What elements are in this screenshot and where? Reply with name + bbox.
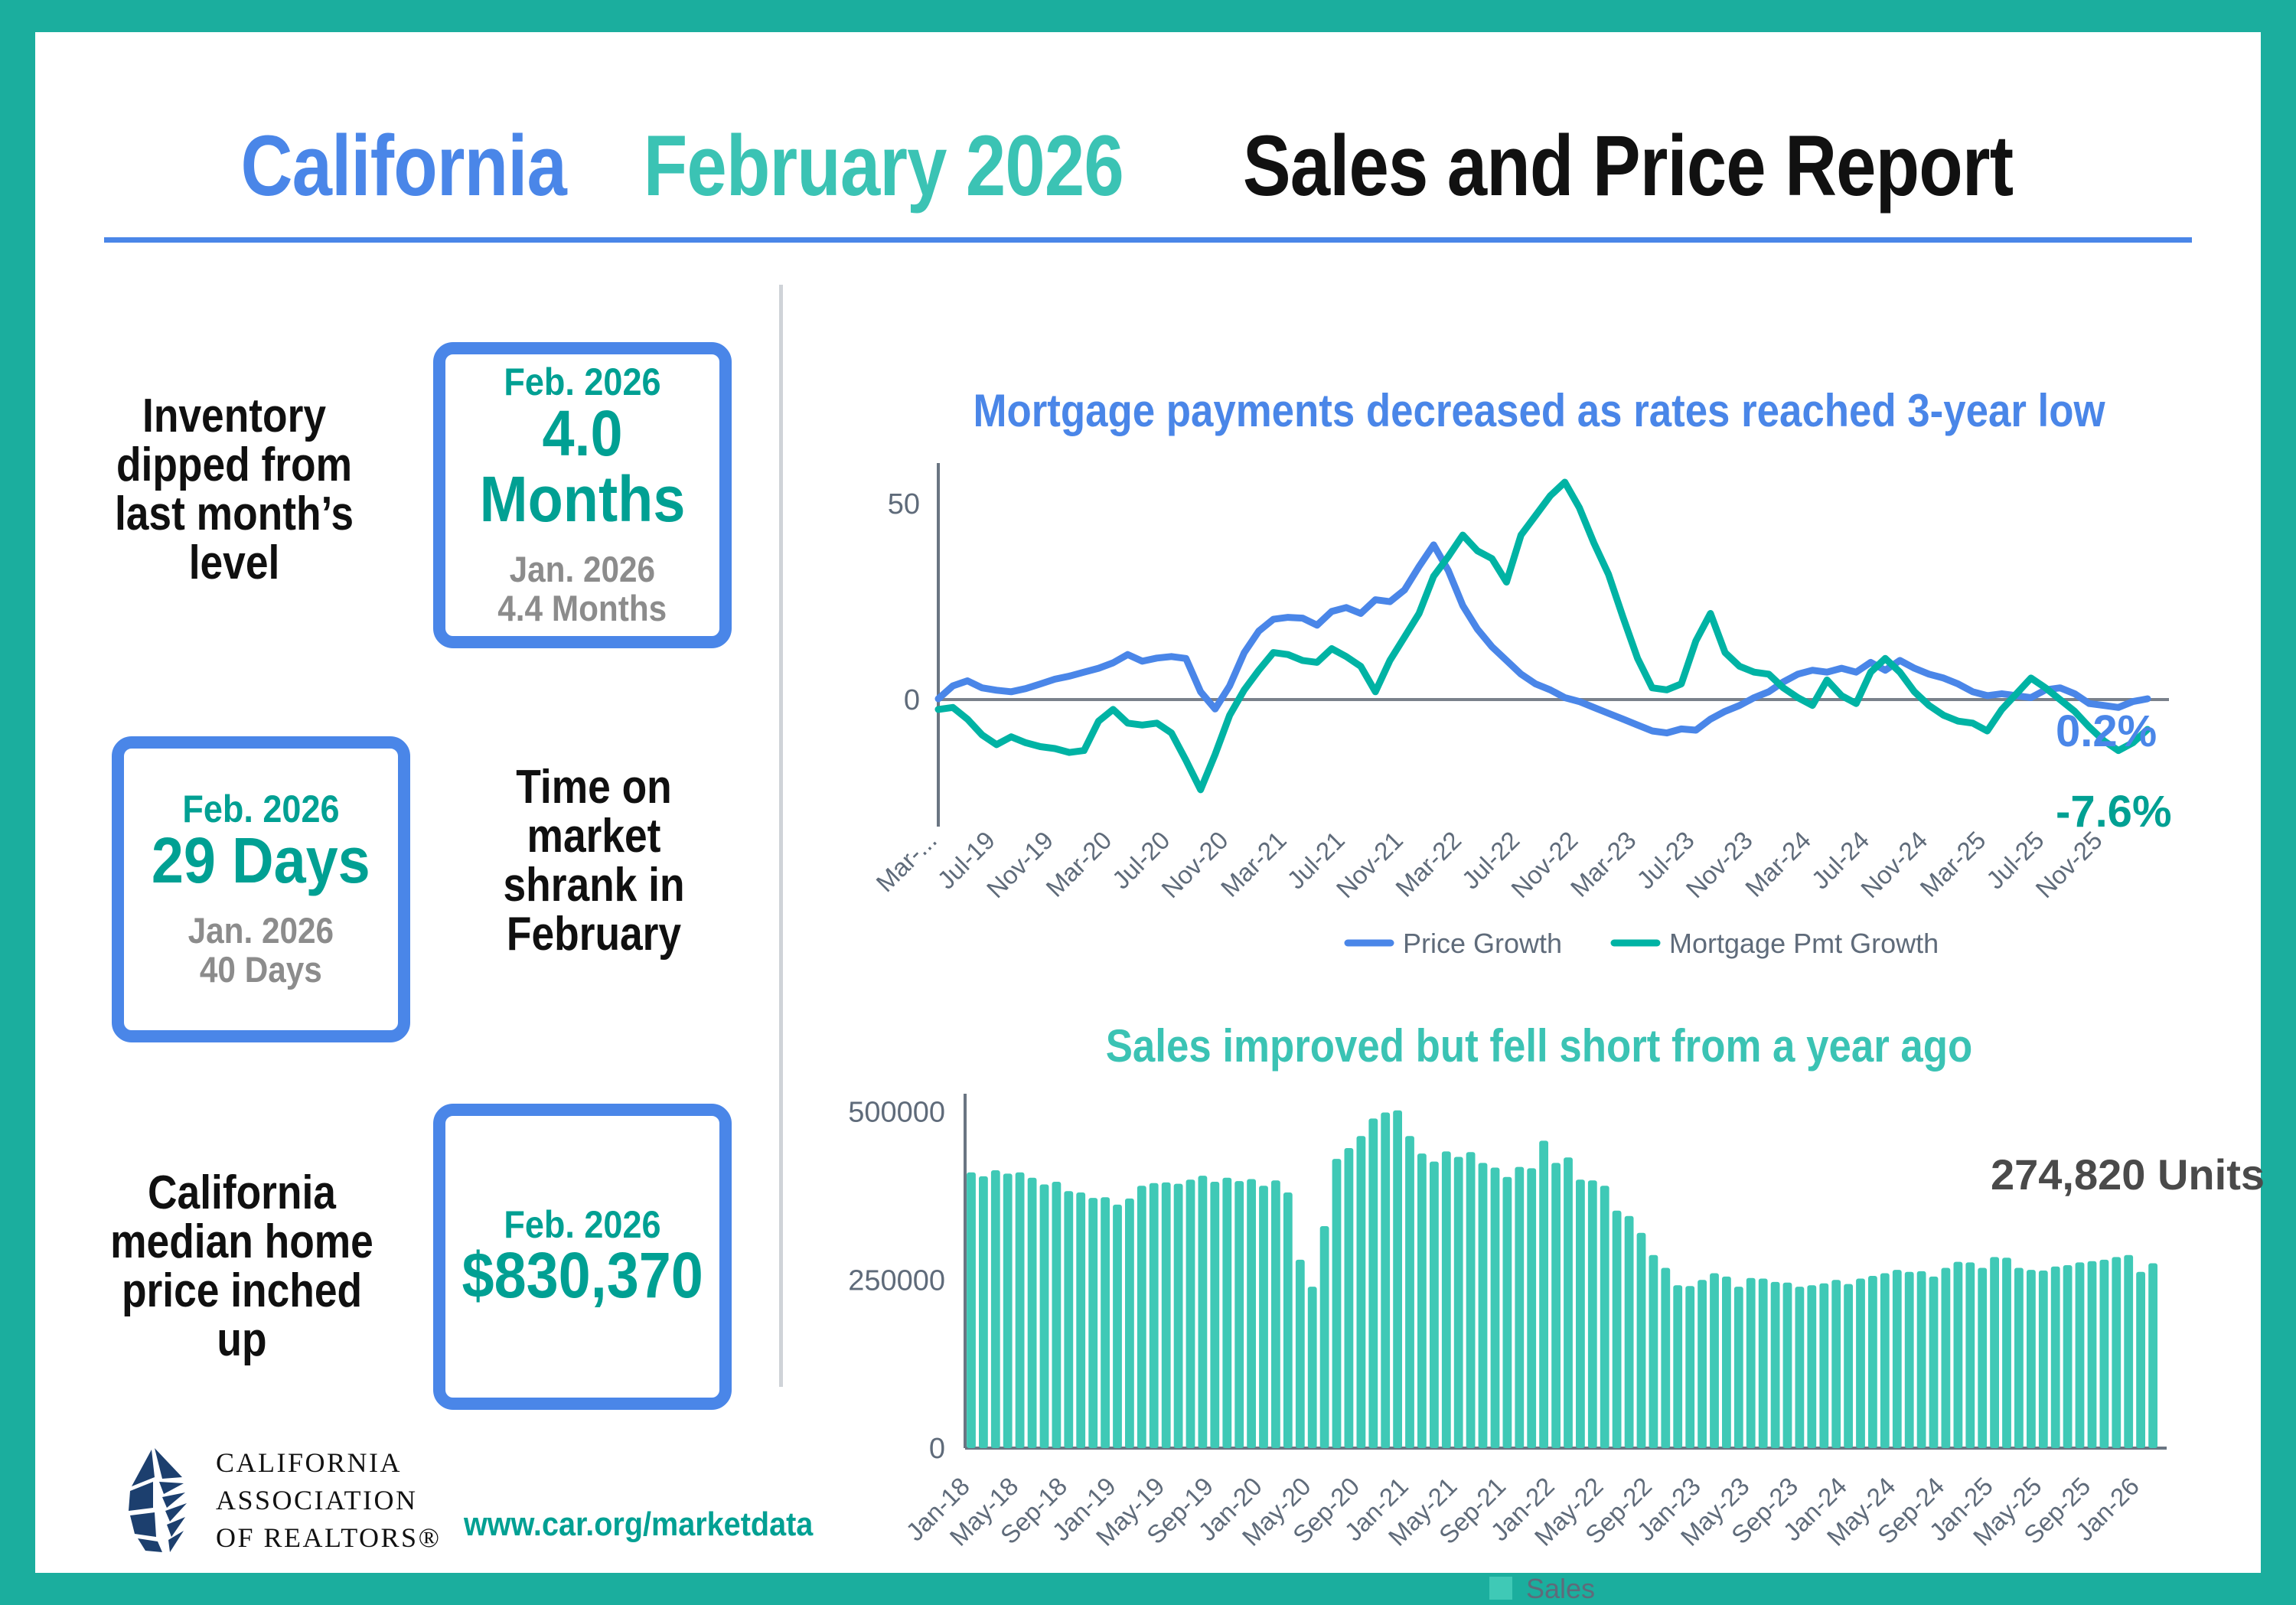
mortgage-price-line-chart: 050Mar-...Jul-19Nov-19Mar-20Jul-20Nov-20… xyxy=(812,457,2266,962)
title-divider-rule xyxy=(104,237,2192,243)
title-part-month-year: February 2026 xyxy=(644,116,1124,215)
inventory-previous-value: 4.4 Months xyxy=(498,589,667,628)
svg-text:Nov-21: Nov-21 xyxy=(1331,826,1408,903)
svg-text:500000: 500000 xyxy=(848,1097,945,1129)
median-price-caption: California median home price inched up xyxy=(103,1169,380,1364)
svg-text:Sales: Sales xyxy=(1526,1573,1595,1604)
time-on-market-caption-block: Time on market shrank in February xyxy=(448,763,739,958)
tom-previous-month: Jan. 2026 xyxy=(188,912,334,951)
median-price-caption-block: California median home price inched up xyxy=(81,1169,403,1364)
bar-chart-title: Sales improved but fell short from a yea… xyxy=(899,1019,2179,1072)
svg-text:Mar-23: Mar-23 xyxy=(1565,826,1642,902)
logo-line-2: ASSOCIATION xyxy=(216,1482,441,1519)
sales-units-annotation: 274,820 Units xyxy=(1991,1150,2265,1199)
inventory-previous-month: Jan. 2026 xyxy=(510,550,656,589)
title-part-report: Sales and Price Report xyxy=(1242,116,2012,215)
market-data-url[interactable]: www.car.org/marketdata xyxy=(464,1506,813,1544)
column-divider xyxy=(779,285,783,1387)
infographic-page: California February 2026 Sales and Price… xyxy=(0,0,2296,1605)
inventory-stat-card: Feb. 2026 4.0 Months Jan. 2026 4.4 Month… xyxy=(433,342,732,648)
svg-text:Nov-19: Nov-19 xyxy=(981,826,1058,903)
car-logo: CALIFORNIA ASSOCIATION OF REALTORS® xyxy=(109,1444,441,1557)
svg-text:Mar-24: Mar-24 xyxy=(1740,826,1816,902)
svg-text:Mar-20: Mar-20 xyxy=(1040,826,1117,902)
svg-text:250000: 250000 xyxy=(848,1264,945,1297)
line-chart-title: Mortgage payments decreased as rates rea… xyxy=(899,384,2179,437)
tom-previous-value: 40 Days xyxy=(200,951,322,990)
svg-text:0: 0 xyxy=(904,684,920,716)
median-price-current-value: $830,370 xyxy=(461,1243,703,1309)
svg-text:Mar-...: Mar-... xyxy=(870,826,942,898)
svg-text:Nov-24: Nov-24 xyxy=(1855,826,1932,903)
svg-text:0: 0 xyxy=(929,1433,945,1465)
logo-line-1: CALIFORNIA xyxy=(216,1444,441,1482)
svg-text:Nov-22: Nov-22 xyxy=(1505,826,1583,903)
svg-text:Mar-25: Mar-25 xyxy=(1914,826,1991,902)
time-on-market-caption: Time on market shrank in February xyxy=(469,763,719,958)
svg-text:Mar-21: Mar-21 xyxy=(1215,826,1292,902)
svg-text:50: 50 xyxy=(888,488,920,520)
svg-text:Nov-20: Nov-20 xyxy=(1156,826,1233,903)
inventory-current-value: 4.0 Months xyxy=(466,401,699,532)
car-logo-wordmark: CALIFORNIA ASSOCIATION OF REALTORS® xyxy=(216,1444,441,1557)
inventory-caption: Inventory dipped from last month’s level xyxy=(103,392,366,587)
svg-text:Mar-22: Mar-22 xyxy=(1390,826,1466,902)
mortgage-growth-end-label: -7.6% xyxy=(2056,786,2172,837)
inventory-caption-block: Inventory dipped from last month’s level xyxy=(81,392,387,587)
time-on-market-stat-card: Feb. 2026 29 Days Jan. 2026 40 Days xyxy=(112,736,410,1042)
title-part-california: California xyxy=(241,116,566,215)
logo-line-3: OF REALTORS® xyxy=(216,1519,441,1557)
page-title: California February 2026 Sales and Price… xyxy=(35,116,2261,215)
white-sheet: California February 2026 Sales and Price… xyxy=(35,32,2261,1573)
median-price-stat-card: Feb. 2026 $830,370 xyxy=(433,1104,732,1410)
svg-text:Price Growth: Price Growth xyxy=(1403,928,1562,959)
svg-text:Nov-23: Nov-23 xyxy=(1681,826,1758,903)
car-logo-mark-icon xyxy=(109,1447,199,1554)
tom-current-value: 29 Days xyxy=(152,828,370,894)
price-growth-end-label: 0.2% xyxy=(2056,706,2157,757)
svg-text:Mortgage Pmt Growth: Mortgage Pmt Growth xyxy=(1669,928,1939,959)
